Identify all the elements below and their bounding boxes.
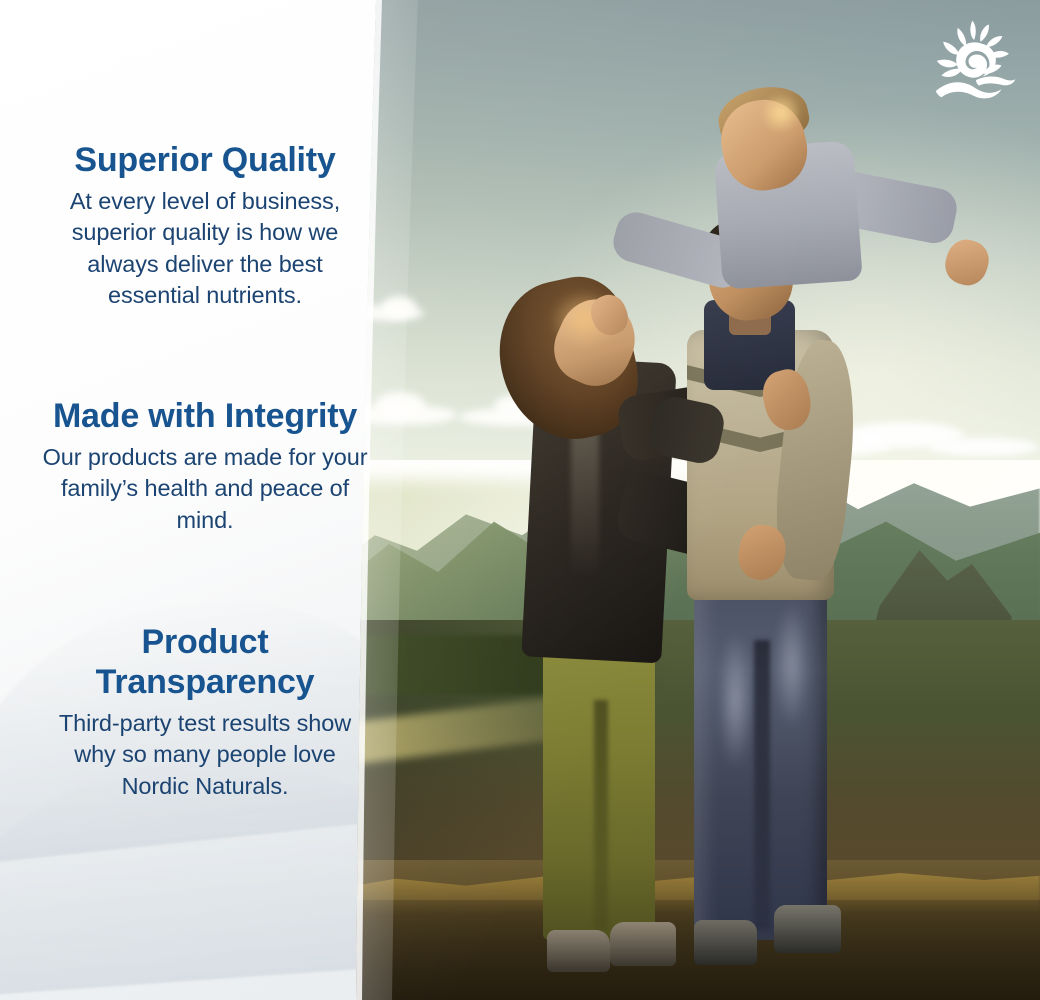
feature-block-product-transparency: Product Transparency Third-party test re… [40,622,370,802]
feature-body: Our products are made for your family’s … [40,442,370,536]
man-shoe-right [774,905,841,953]
cloud [928,438,1038,456]
ground-shadow [340,900,1040,1000]
woman-leg-seam [594,700,608,930]
feature-heading: Made with Integrity [40,396,370,436]
feature-block-made-with-integrity: Made with Integrity Our products are mad… [40,396,370,536]
feature-heading: Product Transparency [40,622,370,702]
lifestyle-photo [340,0,1040,1000]
photo-scene [340,0,1040,1000]
panel-content: Superior Quality At every level of busin… [0,0,412,1000]
child-hair-highlight [760,92,802,134]
man-jeans-highlight-left [718,630,753,770]
man-leg-seam [754,640,769,930]
marketing-banner: Superior Quality At every level of busin… [0,0,1040,1000]
sun-wave-logo-icon [930,18,1022,102]
feature-body: At every level of business, superior qua… [40,186,370,311]
woman-shoe-right [610,922,677,966]
feature-block-superior-quality: Superior Quality At every level of busin… [40,140,370,311]
man-shoe-left [694,920,757,965]
woman-shoe-left [547,930,610,972]
brand-logo [930,18,1022,102]
feature-body: Third-party test results show why so man… [40,708,370,802]
feature-heading: Superior Quality [40,140,370,180]
man-jeans-highlight-right [774,600,809,730]
